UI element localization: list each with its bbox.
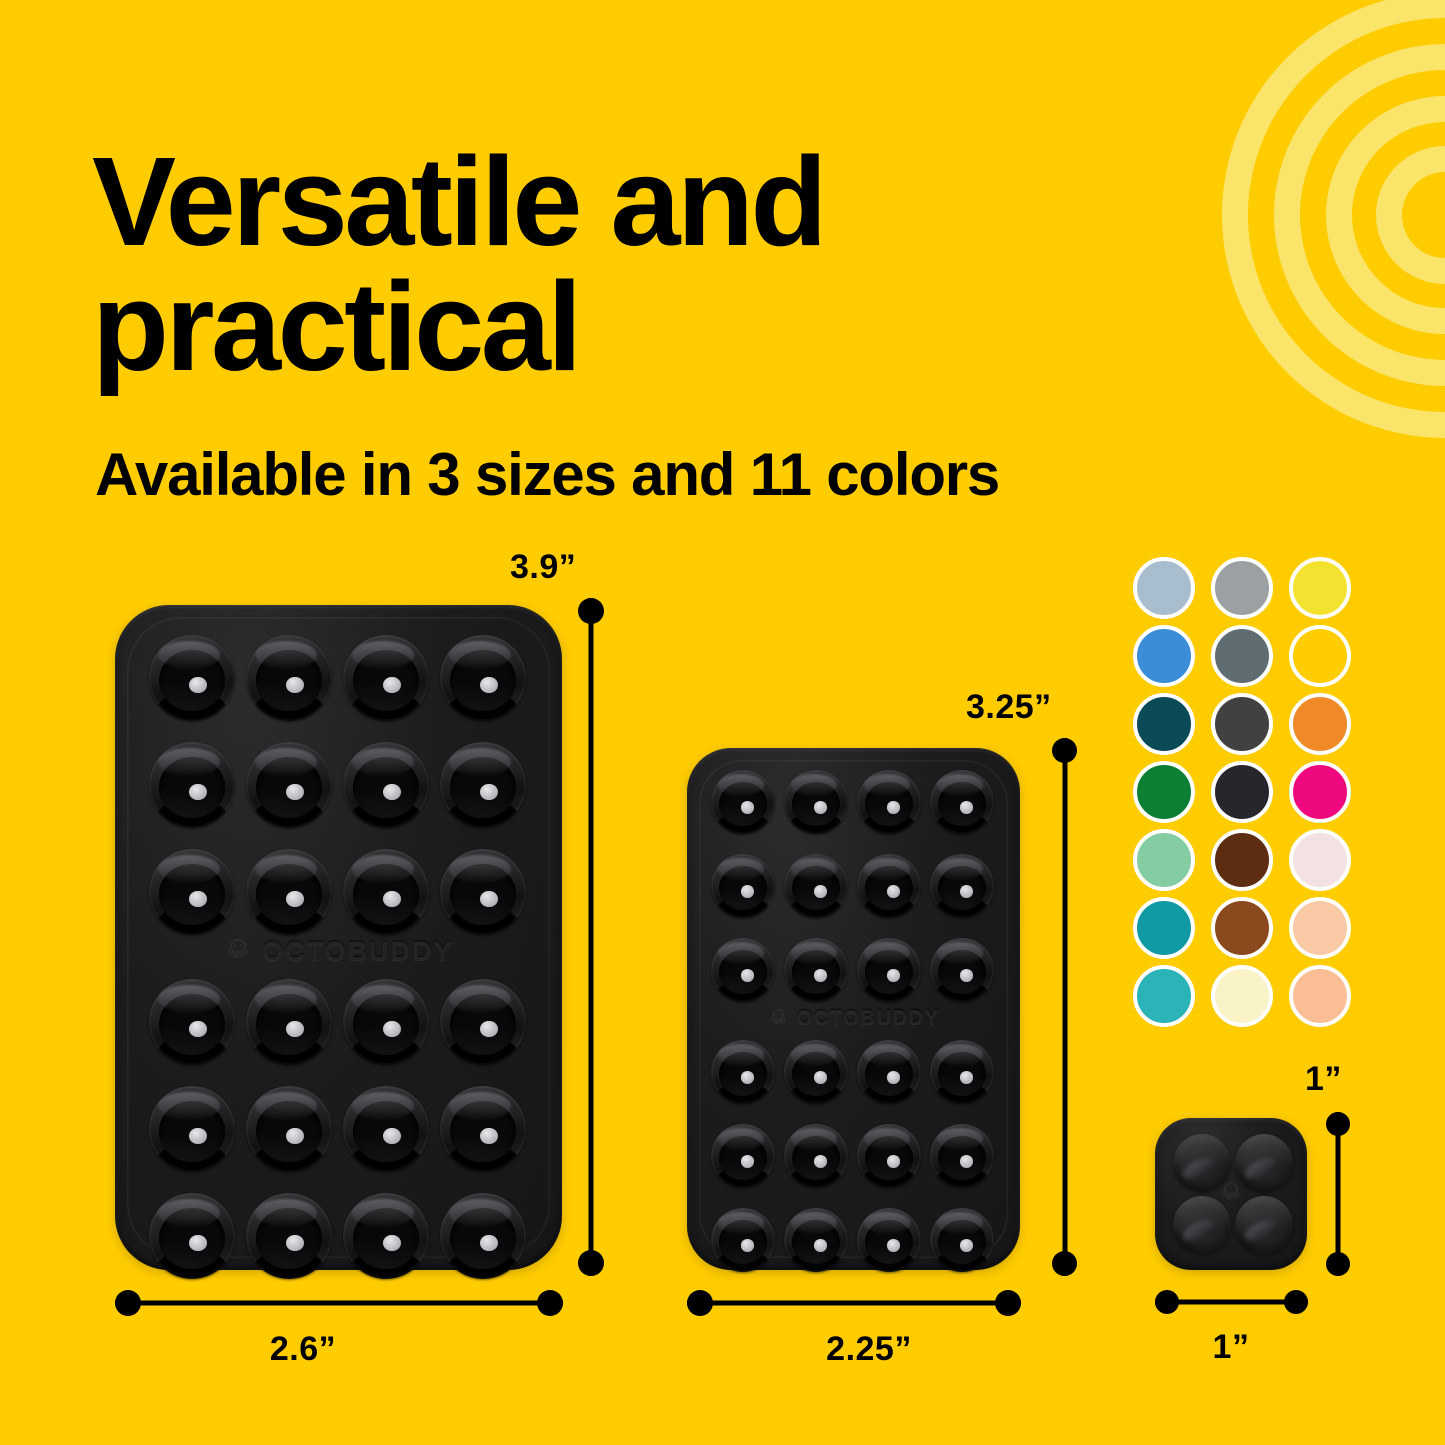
dimension-label-small-width: 1” [1213,1328,1250,1367]
suction-cup-nub [480,1235,497,1251]
suction-cup [930,770,994,834]
dimension-dot-left [1155,1290,1179,1314]
dimension-line-large-height [578,598,604,1276]
suction-cup-highlight [864,1128,910,1149]
color-swatch-dark-brown[interactable] [1211,829,1273,891]
suction-cup-highlight [937,858,983,879]
product-pad-medium[interactable]: OCTOBUDDY [687,748,1020,1270]
suction-cup-highlight [718,1128,764,1149]
suction-cup-nub [480,677,497,693]
suction-cup-nub [189,1235,206,1251]
brand-logo-text-medium: OCTOBUDDY [797,1007,940,1030]
suction-cup-nub [189,1128,206,1144]
suction-cup [711,770,775,834]
suction-cup-nub [286,1235,303,1251]
suction-cup-nub [741,1239,754,1251]
dimension-bar [687,1301,1021,1306]
suction-cup-nub [189,891,206,907]
color-swatch-magenta[interactable] [1289,761,1351,823]
suction-cup-highlight [937,942,983,963]
suction-cup-highlight [864,1212,910,1233]
suction-cup-nub [741,969,754,981]
color-swatch-light-blue-gray[interactable] [1133,557,1195,619]
suction-cup [930,938,994,1002]
suction-cup-highlight [937,774,983,795]
suction-cup-nub [960,1155,973,1167]
color-swatch-mint-green[interactable] [1133,829,1195,891]
suction-cup-nub [960,969,973,981]
infographic-canvas: Versatile and practical Available in 3 s… [0,0,1445,1445]
suction-cup-highlight [791,942,837,963]
suction-cup [930,1124,994,1188]
suction-cup [343,1193,429,1279]
suction-cup-nub [189,784,206,800]
suction-cup-nub [480,784,497,800]
dimension-label-small-height: 1” [1305,1060,1342,1099]
suction-cup-highlight [791,1128,837,1149]
dimension-bar [589,598,594,1276]
suction-cup-highlight [937,1044,983,1065]
suction-cup-highlight [791,774,837,795]
color-swatch-azure-blue[interactable] [1133,625,1195,687]
suction-cup-nub [383,891,400,907]
color-swatch-orange[interactable] [1289,693,1351,755]
suction-cup-nub [814,1155,827,1167]
suction-cup-grid-medium-lower [711,1040,996,1272]
dimension-label-medium-width: 2.25” [826,1330,912,1369]
suction-cup [857,938,921,1002]
page-subtitle: Available in 3 sizes and 11 colors [95,440,999,509]
suction-cup [440,1086,526,1172]
dimension-dot-bottom [578,1250,604,1276]
suction-cup-nub [814,885,827,897]
suction-cup-grid-large [149,635,528,935]
color-swatch-turquoise[interactable] [1133,965,1195,1027]
suction-cup [246,635,332,721]
suction-cup-highlight [718,1044,764,1065]
decorative-arc-2 [1229,0,1445,431]
suction-cup-nub [480,891,497,907]
suction-cup [784,1124,848,1188]
color-swatch-clear[interactable] [1289,625,1351,687]
color-swatch-light-peach[interactable] [1289,965,1351,1027]
suction-cup-nub [814,801,827,813]
suction-cup [246,1086,332,1172]
suction-cup [343,635,429,721]
color-options-grid [1133,557,1351,1027]
suction-cup-nub [383,1128,400,1144]
dimension-dot-right [1284,1290,1308,1314]
brand-logo-text-large: OCTOBUDDY [262,936,454,967]
suction-cup [784,1040,848,1104]
suction-cup-nub [887,801,900,813]
suction-cup-nub [741,885,754,897]
dimension-line-small-width [1155,1290,1308,1314]
color-swatch-kelly-green[interactable] [1133,761,1195,823]
suction-cup-nub [286,784,303,800]
suction-cup-highlight [718,942,764,963]
suction-cup-nub [814,969,827,981]
suction-cup-nub [189,677,206,693]
suction-cup [784,770,848,834]
suction-cup [343,979,429,1065]
headline-line-1: Versatile and [92,140,1212,265]
suction-cup [246,742,332,828]
suction-cup-highlight [864,1044,910,1065]
suction-cup [149,635,235,721]
suction-cup-nub [189,1021,206,1037]
dimension-label-medium-height: 3.25” [966,688,1052,727]
suction-cup-nub [741,1155,754,1167]
suction-cup-nub [286,891,303,907]
dimension-line-medium-height [1052,738,1077,1276]
suction-cup-highlight [937,1128,983,1149]
suction-cup [857,1040,921,1104]
suction-cup-nub [741,801,754,813]
dimension-line-small-height [1326,1112,1350,1276]
color-swatch-peach[interactable] [1289,897,1351,959]
suction-cup [440,979,526,1065]
suction-cup [246,979,332,1065]
dimension-dot-top [578,598,604,624]
suction-cup-nub [286,1128,303,1144]
headline-line-2: practical [92,265,1212,390]
suction-cup-nub [741,1071,754,1083]
suction-cup [930,1208,994,1272]
suction-cup [149,742,235,828]
suction-cup-nub [480,1021,497,1037]
suction-cup-nub [383,1021,400,1037]
suction-cup-nub [887,969,900,981]
color-swatch-medium-gray[interactable] [1211,557,1273,619]
suction-cup-nub [887,1071,900,1083]
suction-cup-nub [383,1235,400,1251]
suction-cup-nub [286,677,303,693]
color-swatch-pale-pink[interactable] [1289,829,1351,891]
color-swatch-bright-yellow[interactable] [1289,557,1351,619]
suction-cup-nub [383,677,400,693]
suction-cup [440,635,526,721]
suction-cup-highlight [864,942,910,963]
dimension-bar [1062,738,1067,1276]
suction-cup-highlight [718,858,764,879]
suction-cup [857,770,921,834]
color-swatch-near-black[interactable] [1211,761,1273,823]
brand-logo-large: OCTOBUDDY [115,923,562,979]
suction-cup-highlight [791,858,837,879]
suction-cup [857,1124,921,1188]
color-swatch-medium-brown[interactable] [1211,897,1273,959]
suction-cup [149,1193,235,1279]
dimension-dot-left [115,1290,141,1316]
suction-cup [930,1040,994,1104]
dimension-dot-top [1052,738,1077,763]
suction-cup [343,1086,429,1172]
suction-cup [440,1193,526,1279]
suction-cup [784,854,848,918]
suction-cup [711,1124,775,1188]
suction-cup-nub [887,1155,900,1167]
color-swatch-dark-teal[interactable] [1133,693,1195,755]
suction-cup-nub [480,1128,497,1144]
suction-cup-nub [887,1239,900,1251]
octopus-icon [1218,1180,1244,1206]
suction-cup-highlight [718,1212,764,1233]
dimension-dot-bottom [1326,1252,1350,1276]
suction-cup [711,938,775,1002]
dimension-line-medium-width [687,1290,1021,1316]
color-swatch-slate-gray[interactable] [1211,625,1273,687]
suction-cup-grid-medium [711,770,996,1002]
brand-logo-medium: OCTOBUDDY [687,996,1020,1040]
suction-cup-grid-large-lower [149,979,528,1279]
suction-cup [857,854,921,918]
dimension-dot-left [687,1290,713,1316]
suction-cup [711,1040,775,1104]
product-pad-small[interactable] [1155,1118,1307,1270]
suction-cup [930,854,994,918]
dimension-label-large-height: 3.9” [510,548,576,587]
suction-cup-nub [960,801,973,813]
color-swatch-teal[interactable] [1133,897,1195,959]
octopus-icon [223,936,253,966]
suction-cup [711,854,775,918]
suction-cup-highlight [937,1212,983,1233]
suction-cup [711,1208,775,1272]
page-title: Versatile and practical [92,140,1212,389]
suction-cup [440,742,526,828]
suction-cup [784,938,848,1002]
suction-cup-highlight [791,1044,837,1065]
suction-cup-highlight [791,1212,837,1233]
octopus-icon [767,1007,790,1030]
suction-cup-nub [960,1071,973,1083]
suction-cup [246,1193,332,1279]
dimension-bar [115,1301,563,1306]
decorative-arc-3 [1300,70,1445,360]
suction-cup [149,979,235,1065]
suction-cup [857,1208,921,1272]
suction-cup-nub [814,1071,827,1083]
suction-cup [149,1086,235,1172]
suction-cup [343,742,429,828]
suction-cup-nub [960,885,973,897]
suction-cup-nub [814,1239,827,1251]
product-pad-large[interactable]: OCTOBUDDY [115,605,562,1270]
suction-cup-nub [887,885,900,897]
dimension-dot-right [537,1290,563,1316]
dimension-dot-top [1326,1112,1350,1136]
dimension-dot-bottom [1052,1251,1077,1276]
dimension-label-large-width: 2.6” [270,1330,336,1369]
color-swatch-cream[interactable] [1211,965,1273,1027]
dimension-dot-right [995,1290,1021,1316]
dimension-line-large-width [115,1290,563,1316]
suction-cup-nub [286,1021,303,1037]
suction-cup-nub [960,1239,973,1251]
suction-cup [784,1208,848,1272]
suction-cup-highlight [864,774,910,795]
color-swatch-charcoal[interactable] [1211,693,1273,755]
suction-cup-highlight [864,858,910,879]
decorative-arc-4 [1369,139,1445,292]
suction-cup-nub [383,784,400,800]
suction-cup-highlight [718,774,764,795]
